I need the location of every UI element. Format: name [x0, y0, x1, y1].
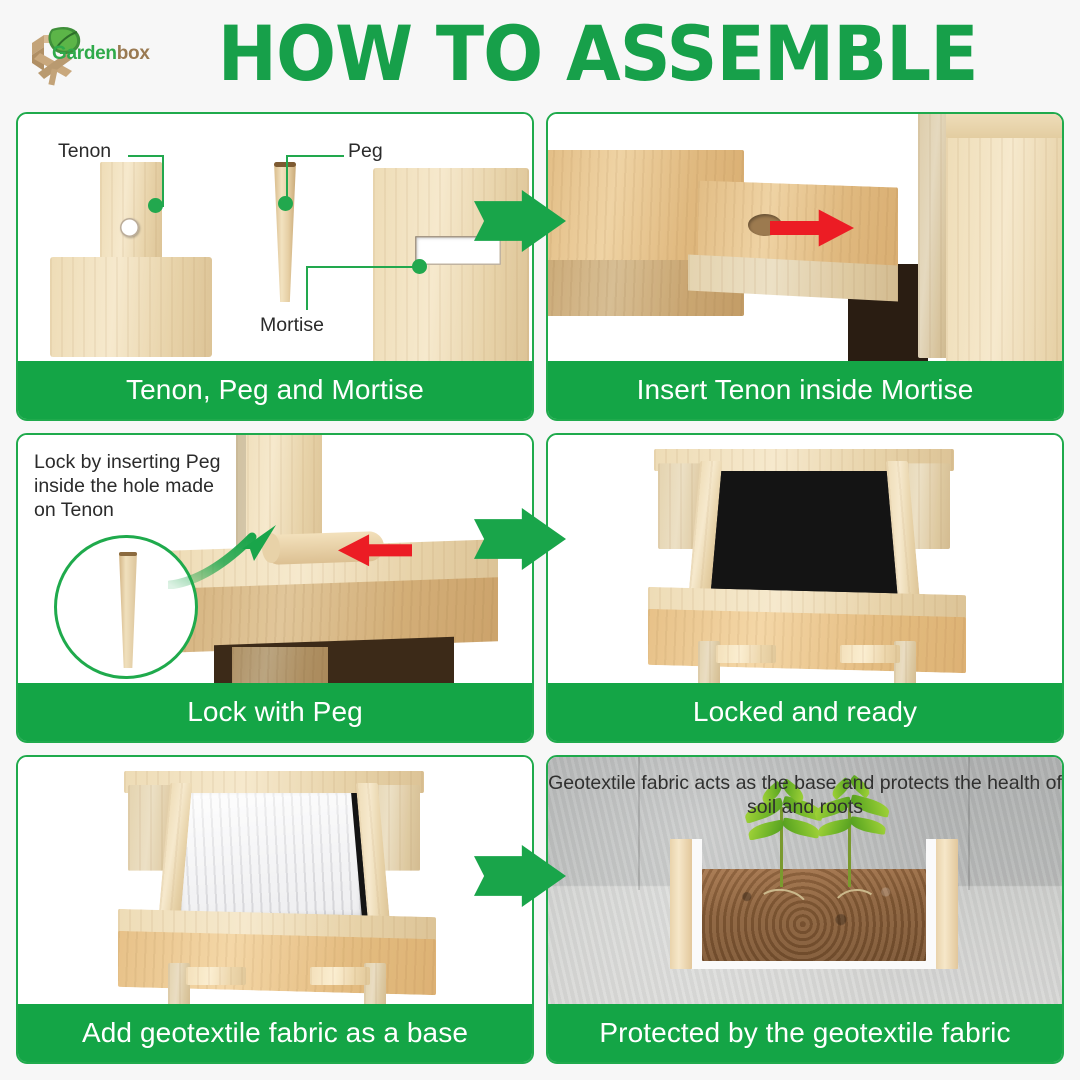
leader-line-tenon-h: [128, 155, 164, 157]
peg-hole: [120, 218, 139, 237]
dot-tenon: [148, 198, 163, 213]
step-panel-3: Lock by inserting Peg inside the hole ma…: [16, 433, 534, 742]
brand-name-part2: box: [117, 43, 150, 64]
step-5-image: [18, 757, 532, 1004]
assembled-frame: [644, 445, 974, 682]
mortise-board-topedge: [946, 114, 1062, 138]
step-panel-2: Insert Tenon inside Mortise: [546, 112, 1064, 421]
step-6-overlay-text: Geotextile fabric acts as the base and p…: [548, 771, 1062, 820]
step-3-caption: Lock with Peg: [18, 683, 532, 741]
mortise-board-face: [946, 114, 1062, 361]
assembled-frame-with-fabric: [114, 767, 444, 1004]
dot-mortise: [412, 259, 427, 274]
step-5-caption: Add geotextile fabric as a base: [18, 1004, 532, 1062]
peg-top-end: [274, 162, 296, 167]
label-peg: Peg: [348, 140, 383, 164]
brand-logo[interactable]: Gardenbox: [22, 19, 134, 89]
step-panel-5: Add geotextile fabric as a base: [16, 755, 534, 1064]
peg-closeup-dowel: [119, 552, 137, 668]
frame-front-rail-face: [118, 930, 436, 994]
step-2-caption: Insert Tenon inside Mortise: [548, 361, 1062, 419]
leader-line-mortise-h: [306, 266, 418, 268]
leader-line-tenon-v: [162, 155, 164, 207]
geotextile-fabric: [180, 793, 362, 919]
brand-name: Gardenbox: [52, 43, 150, 65]
tenon-board: [50, 162, 212, 361]
peg-closeup-top: [119, 552, 137, 556]
mortise-board: [373, 168, 529, 361]
planter-post-left: [670, 839, 692, 969]
lower-post: [232, 647, 328, 682]
label-tenon: Tenon: [58, 140, 111, 164]
leader-line-mortise-v: [306, 266, 308, 310]
geotextile-lining-right: [926, 839, 936, 969]
step-2-image: [548, 114, 1062, 361]
geotextile-lining-left: [692, 839, 702, 969]
dot-peg: [278, 196, 293, 211]
step-4-image: [548, 435, 1062, 682]
step-3-image: Lock by inserting Peg inside the hole ma…: [18, 435, 532, 682]
guide-curved-arrow: [168, 519, 298, 589]
step-1-image: Tenon Peg Mortise: [18, 114, 532, 361]
frame-tenon-right-through: [310, 967, 370, 985]
peg-dowel: [274, 162, 296, 302]
step-panel-6: Geotextile fabric acts as the base and p…: [546, 755, 1064, 1064]
frame-tenon-right-through: [840, 645, 900, 663]
page-title: HOW TO ASSEMBLE: [167, 16, 1047, 92]
frame-interior-lining: [690, 459, 912, 599]
leader-line-peg-h: [286, 155, 344, 157]
step-panel-4: Locked and ready: [546, 433, 1064, 742]
planter-post-right: [936, 839, 958, 969]
step-4-caption: Locked and ready: [548, 683, 1062, 741]
frame-tenon-left-through: [186, 967, 246, 985]
brand-name-part1: Garden: [52, 43, 117, 64]
soil-fill: [702, 869, 926, 961]
label-mortise: Mortise: [260, 314, 324, 338]
page-header: Gardenbox HOW TO ASSEMBLE: [0, 0, 1080, 108]
step-6-image: Geotextile fabric acts as the base and p…: [548, 757, 1062, 1004]
frame-front-rail-face: [648, 609, 966, 673]
step-6-caption: Protected by the geotextile fabric: [548, 1004, 1062, 1062]
steps-grid: Tenon Peg Mortise Tenon, Peg and Mortise: [16, 112, 1064, 1064]
step-1-caption: Tenon, Peg and Mortise: [18, 361, 532, 419]
step-3-note: Lock by inserting Peg inside the hole ma…: [34, 451, 220, 522]
frame-tenon-left-through: [716, 645, 776, 663]
step-panel-1: Tenon Peg Mortise Tenon, Peg and Mortise: [16, 112, 534, 421]
